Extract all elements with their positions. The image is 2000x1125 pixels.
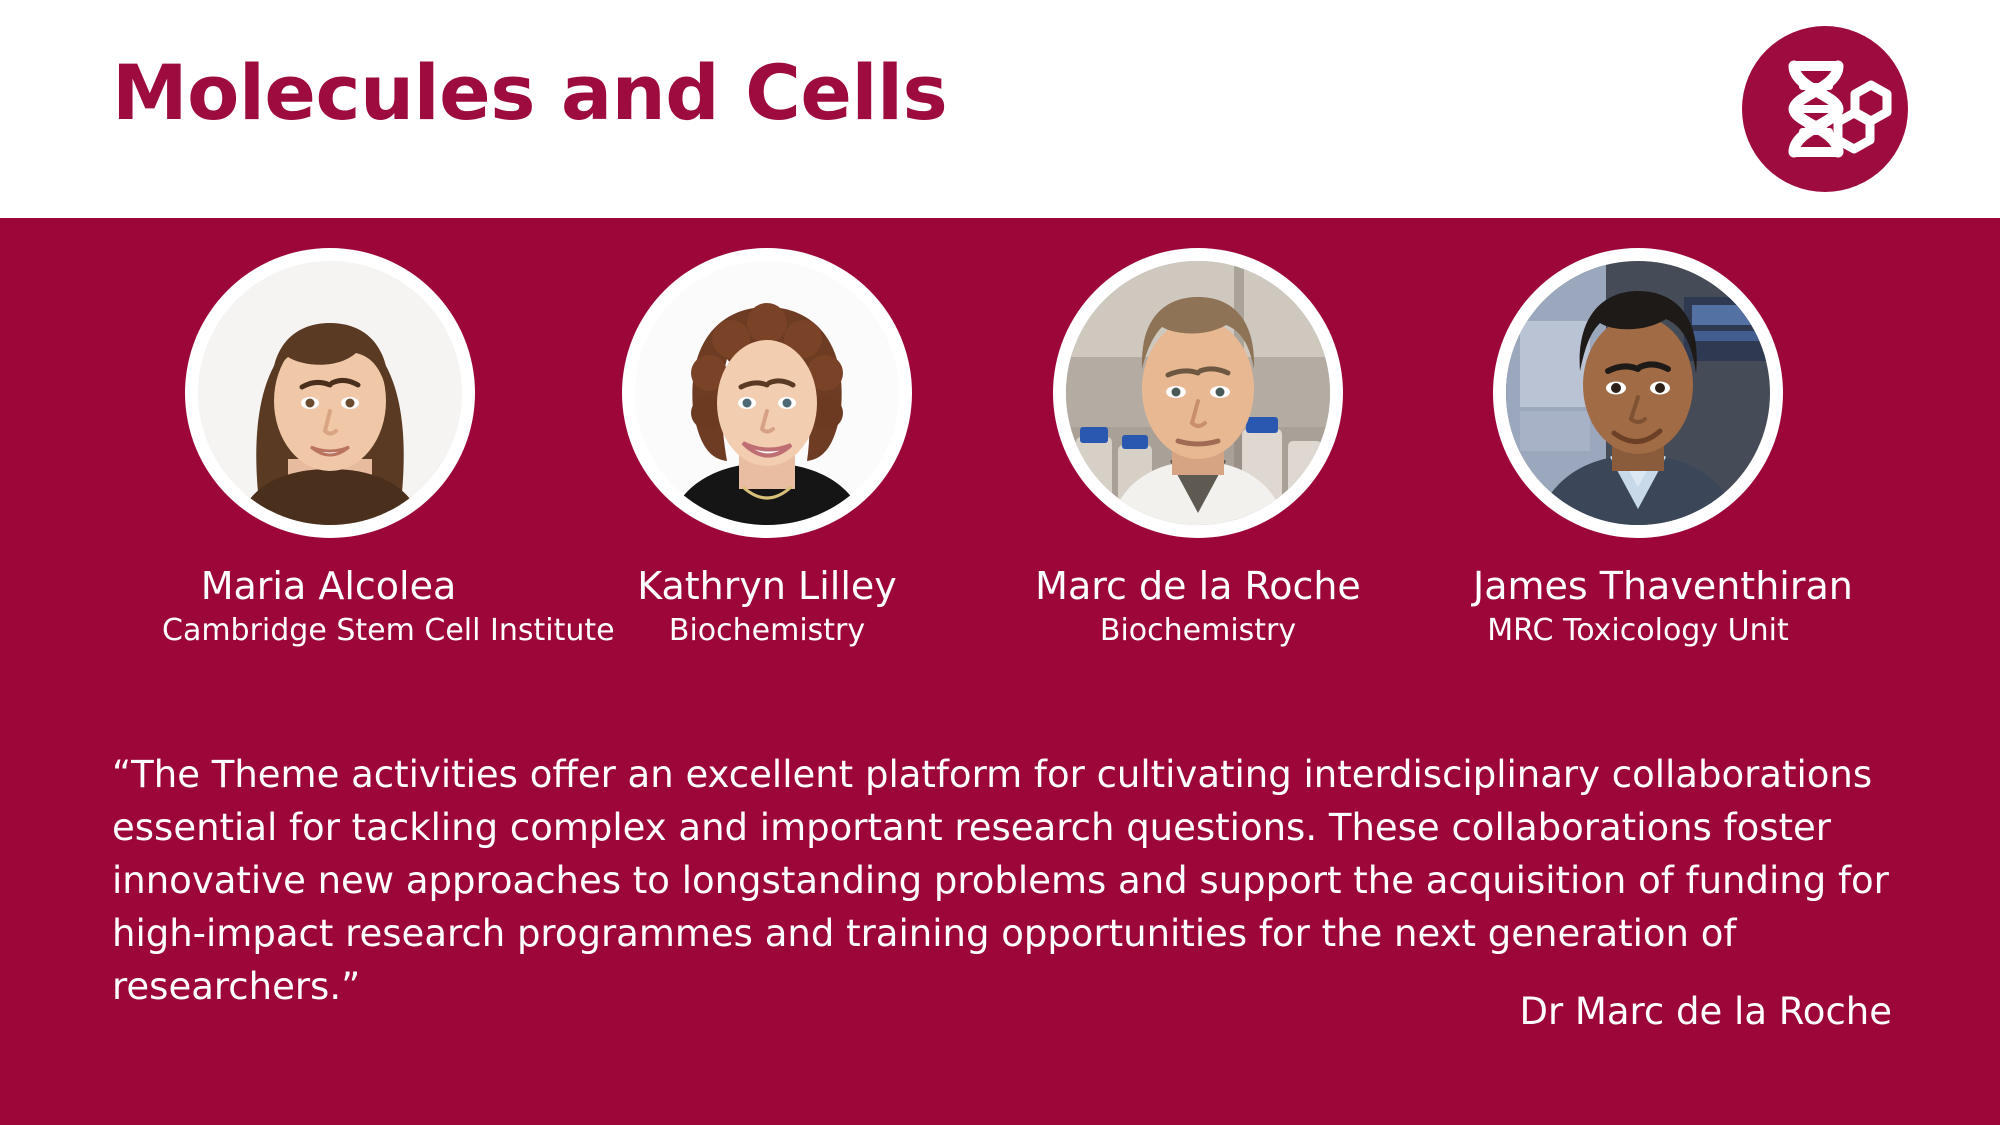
content-panel: Maria Alcolea Cambridge Stem Cell Instit… [0,218,2000,1125]
dna-molecule-icon [1742,26,1908,192]
person-card: Maria Alcolea Cambridge Stem Cell Instit… [165,248,495,650]
avatar [622,248,912,538]
avatar-photo-marc-de-la-roche [1066,261,1330,525]
person-card: Kathryn Lilley Biochemistry [602,248,932,650]
avatar [1493,248,1783,538]
avatar-photo-maria-alcolea [198,261,462,525]
avatar-photo-kathryn-lilley [635,261,899,525]
slide-header: Molecules and Cells [0,0,2000,218]
person-name: Maria Alcolea [162,564,495,608]
person-name: Marc de la Roche [1033,564,1363,608]
person-name: James Thaventhiran [1473,564,1803,608]
person-affiliation: Cambridge Stem Cell Institute [162,612,495,650]
person-affiliation: Biochemistry [602,612,932,650]
person-card: James Thaventhiran MRC Toxicology Unit [1473,248,1803,650]
person-affiliation: MRC Toxicology Unit [1473,612,1803,650]
avatar-photo-james-thaventhiran [1506,261,1770,525]
quote-text: “The Theme activities offer an excellent… [112,748,1902,1013]
people-row: Maria Alcolea Cambridge Stem Cell Instit… [0,248,2000,688]
person-affiliation: Biochemistry [1033,612,1363,650]
quote-attribution: Dr Marc de la Roche [112,988,1892,1036]
avatar [1053,248,1343,538]
slide-root: Molecules and Cells [0,0,2000,1125]
avatar [185,248,475,538]
person-name: Kathryn Lilley [602,564,932,608]
person-card: Marc de la Roche Biochemistry [1033,248,1363,650]
page-title: Molecules and Cells [112,48,947,137]
logo [1742,26,1908,192]
